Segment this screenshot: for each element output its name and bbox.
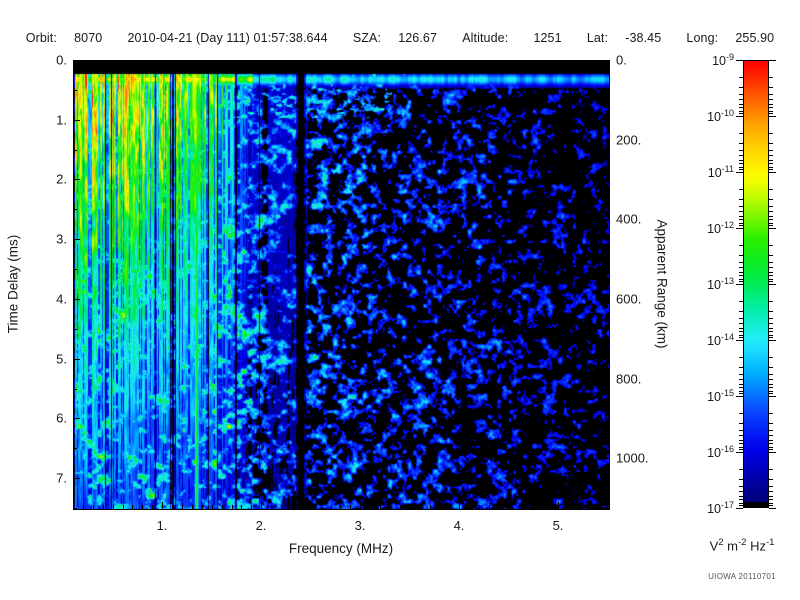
y2-tick-minor <box>605 259 609 260</box>
y-axis-right-tick-label: 200. <box>616 133 641 148</box>
colorbar-tick-minor <box>739 275 743 276</box>
y-tick-minor <box>73 389 77 390</box>
y-axis-right-tick-label: 600. <box>616 292 641 307</box>
x-top-tick-minor <box>608 60 609 64</box>
credit-footer: UIOWA 20110701 <box>708 572 776 581</box>
x-top-tick-minor <box>142 60 143 64</box>
x-tick-minor <box>123 505 124 509</box>
x-axis-tick-label: 1. <box>157 518 168 533</box>
x-top-tick-minor <box>331 60 332 64</box>
colorbar-tick-minor <box>769 413 773 414</box>
x-tick-minor <box>539 505 540 509</box>
colorbar-tick-major <box>769 60 776 61</box>
x-tick-minor <box>390 505 391 509</box>
colorbar-tick-minor <box>739 440 743 441</box>
colorbar-tick-minor <box>769 393 773 394</box>
colorbar-tick-minor <box>739 367 743 368</box>
x-tick-minor <box>222 505 223 509</box>
y-axis-right-title: Apparent Range (km) <box>655 219 670 348</box>
colorbar-tick-minor <box>769 505 773 506</box>
colorbar-tick-minor <box>739 479 743 480</box>
y2-tick-minor <box>605 100 609 101</box>
x-top-tick-minor <box>202 60 203 64</box>
x-top-tick-minor <box>222 60 223 64</box>
colorbar-tick-major <box>736 340 743 341</box>
colorbar-tick-major <box>769 396 776 397</box>
colorbar-tick-minor <box>739 469 743 470</box>
y-axis-right-tick-label: 0. <box>616 53 627 68</box>
x-tick-minor <box>321 505 322 509</box>
colorbar-tick-label: 10-11 <box>708 164 734 180</box>
x-tick-major <box>459 502 460 509</box>
colorbar-tick-minor <box>739 255 743 256</box>
colorbar-tick-minor <box>739 133 743 134</box>
x-axis-tick-label: 2. <box>256 518 267 533</box>
colorbar-tick-minor <box>769 155 773 156</box>
x-top-tick-minor <box>479 60 480 64</box>
x-top-tick-minor <box>489 60 490 64</box>
colorbar-tick-major <box>736 284 743 285</box>
y-axis-left-tick-label: 6. <box>0 411 67 426</box>
colorbar-tick-minor <box>739 279 743 280</box>
colorbar-tick-minor <box>769 440 773 441</box>
colorbar-tick-minor <box>739 155 743 156</box>
colorbar-tick-minor <box>769 374 773 375</box>
colorbar-tick-minor <box>739 104 743 105</box>
y-tick-minor <box>73 448 77 449</box>
colorbar-tick-minor <box>769 107 773 108</box>
x-top-tick-minor <box>281 60 282 64</box>
colorbar-tick-minor <box>739 167 743 168</box>
x-top-tick-minor <box>519 60 520 64</box>
colorbar-tick-minor <box>739 374 743 375</box>
colorbar-tick-minor <box>769 216 773 217</box>
colorbar-tick-label: 10-15 <box>707 388 734 404</box>
x-top-tick-minor <box>271 60 272 64</box>
colorbar-tick-minor <box>739 150 743 151</box>
colorbar-tick-major <box>769 228 776 229</box>
lat-value: -38.45 <box>625 31 661 45</box>
colorbar-tick-minor <box>769 503 773 504</box>
x-tick-minor <box>410 505 411 509</box>
x-top-tick-minor <box>539 60 540 64</box>
colorbar-tick-minor <box>769 163 773 164</box>
colorbar-tick-label: 10-16 <box>707 444 734 460</box>
lat-label: Lat: <box>587 31 608 45</box>
x-top-tick-minor <box>152 60 153 64</box>
x-top-tick-minor <box>93 60 94 64</box>
colorbar-tick-minor <box>769 301 773 302</box>
x-tick-minor <box>380 505 381 509</box>
x-top-tick-minor <box>212 60 213 64</box>
x-tick-minor <box>400 505 401 509</box>
colorbar-tick-minor <box>769 272 773 273</box>
y2-tick-major <box>602 379 609 380</box>
colorbar-tick-minor <box>739 423 743 424</box>
colorbar-tick-minor <box>769 337 773 338</box>
x-tick-minor <box>430 505 431 509</box>
ionogram-figure: Orbit: 8070 2010-04-21 (Day 111) 01:57:3… <box>0 0 800 600</box>
x-tick-minor <box>93 505 94 509</box>
colorbar-tick-minor <box>739 281 743 282</box>
x-tick-minor <box>172 505 173 509</box>
x-top-tick-minor <box>132 60 133 64</box>
colorbar-tick-minor <box>769 167 773 168</box>
colorbar-tick-minor <box>739 272 743 273</box>
colorbar-tick-minor <box>769 267 773 268</box>
colorbar-tick-major <box>736 508 743 509</box>
colorbar-tick-minor <box>739 94 743 95</box>
x-tick-minor <box>113 505 114 509</box>
x-top-tick-minor <box>291 60 292 64</box>
sza-value: 126.67 <box>398 31 437 45</box>
x-top-tick-minor <box>380 60 381 64</box>
colorbar-tick-minor <box>769 328 773 329</box>
x-top-tick-minor <box>83 60 84 64</box>
x-top-tick-minor <box>232 60 233 64</box>
x-tick-minor <box>182 505 183 509</box>
colorbar-tick-minor <box>739 113 743 114</box>
colorbar-tick-minor <box>739 311 743 312</box>
x-top-tick-minor <box>311 60 312 64</box>
colorbar-tick-minor <box>739 169 743 170</box>
altitude-value: 1251 <box>533 31 561 45</box>
x-tick-minor <box>608 505 609 509</box>
x-tick-minor <box>301 505 302 509</box>
colorbar-tick-minor <box>769 430 773 431</box>
x-tick-minor <box>499 505 500 509</box>
colorbar-tick-minor <box>739 447 743 448</box>
colorbar-tick-minor <box>769 423 773 424</box>
y-tick-major <box>73 418 80 419</box>
x-tick-minor <box>340 505 341 509</box>
y2-tick-major <box>602 299 609 300</box>
x-tick-minor <box>281 505 282 509</box>
colorbar-tick-minor <box>769 150 773 151</box>
colorbar-tick-minor <box>769 331 773 332</box>
colorbar-tick-minor <box>739 387 743 388</box>
y-tick-minor <box>73 209 77 210</box>
x-top-tick-minor <box>370 60 371 64</box>
x-tick-minor <box>549 505 550 509</box>
x-tick-minor <box>251 505 252 509</box>
x-tick-major <box>162 502 163 509</box>
colorbar-tick-minor <box>769 225 773 226</box>
colorbar-tick-minor <box>769 387 773 388</box>
colorbar-tick-minor <box>769 384 773 385</box>
colorbar-tick-minor <box>739 491 743 492</box>
x-top-tick-minor <box>588 60 589 64</box>
colorbar-tick-minor <box>769 160 773 161</box>
colorbar-tick-minor <box>739 199 743 200</box>
colorbar-tick-minor <box>739 323 743 324</box>
colorbar <box>743 60 769 508</box>
colorbar-tick-minor <box>769 447 773 448</box>
colorbar-tick-minor <box>739 331 743 332</box>
colorbar-tick-minor <box>769 323 773 324</box>
x-axis-tick-label: 4. <box>454 518 465 533</box>
x-axis-tick-label: 3. <box>355 518 366 533</box>
x-top-tick-minor <box>123 60 124 64</box>
colorbar-tick-minor <box>739 163 743 164</box>
spectrogram-image <box>74 61 609 509</box>
x-top-tick-minor <box>113 60 114 64</box>
colorbar-tick-minor <box>739 206 743 207</box>
colorbar-tick-minor <box>739 391 743 392</box>
colorbar-tick-minor <box>769 435 773 436</box>
colorbar-tick-minor <box>739 443 743 444</box>
x-tick-major <box>261 502 262 509</box>
colorbar-tick-minor <box>739 107 743 108</box>
y-tick-major <box>73 299 80 300</box>
x-tick-minor <box>440 505 441 509</box>
colorbar-tick-minor <box>739 328 743 329</box>
orbit-label: Orbit: <box>26 31 57 45</box>
colorbar-tick-minor <box>739 335 743 336</box>
colorbar-tick-minor <box>769 87 773 88</box>
colorbar-tick-minor <box>739 430 743 431</box>
colorbar-tick-major <box>769 284 776 285</box>
y-axis-left-tick-label: 2. <box>0 172 67 187</box>
y-tick-minor <box>73 150 77 151</box>
colorbar-tick-minor <box>769 479 773 480</box>
colorbar-tick-minor <box>739 77 743 78</box>
y-tick-major <box>73 120 80 121</box>
y-axis-right-tick-label: 800. <box>616 372 641 387</box>
long-label: Long: <box>686 31 718 45</box>
x-tick-minor <box>420 505 421 509</box>
colorbar-tick-minor <box>769 211 773 212</box>
x-tick-minor <box>449 505 450 509</box>
colorbar-tick-label: 10-17 <box>707 500 734 516</box>
altitude-label: Altitude: <box>462 31 508 45</box>
y-axis-left-tick-label: 5. <box>0 352 67 367</box>
colorbar-tick-minor <box>739 301 743 302</box>
x-tick-minor <box>232 505 233 509</box>
x-tick-minor <box>519 505 520 509</box>
y-axis-right-tick-label: 1000. <box>616 451 649 466</box>
y-tick-major <box>73 239 80 240</box>
header-metadata: Orbit: 8070 2010-04-21 (Day 111) 01:57:3… <box>0 31 800 45</box>
x-top-tick-minor <box>529 60 530 64</box>
x-tick-minor <box>212 505 213 509</box>
colorbar-tick-minor <box>739 87 743 88</box>
colorbar-tick-minor <box>769 499 773 500</box>
colorbar-tick-minor <box>769 486 773 487</box>
colorbar-tick-minor <box>739 216 743 217</box>
colorbar-tick-minor <box>769 279 773 280</box>
colorbar-tick-major <box>769 508 776 509</box>
colorbar-tick-major <box>736 396 743 397</box>
x-tick-minor <box>291 505 292 509</box>
colorbar-gradient <box>743 60 769 508</box>
x-top-tick-minor <box>578 60 579 64</box>
colorbar-tick-minor <box>769 275 773 276</box>
colorbar-tick-major <box>769 340 776 341</box>
y-tick-major <box>73 478 80 479</box>
colorbar-tick-minor <box>739 384 743 385</box>
colorbar-tick-minor <box>739 499 743 500</box>
colorbar-tick-major <box>736 116 743 117</box>
colorbar-tick-minor <box>739 357 743 358</box>
x-top-tick-minor <box>509 60 510 64</box>
x-tick-minor <box>370 505 371 509</box>
y2-tick-minor <box>605 418 609 419</box>
y2-tick-major <box>602 458 609 459</box>
x-tick-minor <box>103 505 104 509</box>
y-tick-minor <box>73 90 77 91</box>
colorbar-tick-minor <box>739 318 743 319</box>
spectrogram-plot-area <box>73 60 610 510</box>
x-top-tick-major <box>360 60 361 67</box>
y-axis-right-tick-label: 400. <box>616 212 641 227</box>
colorbar-tick-minor <box>769 311 773 312</box>
colorbar-tick-minor <box>769 281 773 282</box>
y-axis-left-title: Time Delay (ms) <box>6 235 21 334</box>
x-tick-minor <box>142 505 143 509</box>
colorbar-tick-major <box>736 60 743 61</box>
colorbar-tick-minor <box>769 469 773 470</box>
x-top-tick-minor <box>172 60 173 64</box>
colorbar-tick-minor <box>769 111 773 112</box>
x-top-tick-minor <box>598 60 599 64</box>
colorbar-tick-minor <box>769 104 773 105</box>
colorbar-tick-minor <box>769 219 773 220</box>
y-axis-left-tick-label: 7. <box>0 471 67 486</box>
y2-tick-major <box>602 140 609 141</box>
x-tick-minor <box>479 505 480 509</box>
colorbar-tick-minor <box>739 496 743 497</box>
colorbar-tick-minor <box>769 113 773 114</box>
x-top-tick-minor <box>440 60 441 64</box>
x-top-tick-minor <box>400 60 401 64</box>
y2-tick-minor <box>605 498 609 499</box>
x-axis-tick-label: 5. <box>553 518 564 533</box>
colorbar-tick-label: 10-13 <box>707 276 734 292</box>
colorbar-tick-minor <box>769 77 773 78</box>
x-tick-minor <box>489 505 490 509</box>
colorbar-tick-minor <box>739 99 743 100</box>
colorbar-tick-minor <box>739 449 743 450</box>
colorbar-tick-minor <box>769 318 773 319</box>
colorbar-tick-minor <box>769 335 773 336</box>
orbit-value: 8070 <box>74 31 102 45</box>
y2-tick-major <box>602 219 609 220</box>
y-tick-minor <box>73 508 77 509</box>
colorbar-tick-major <box>736 228 743 229</box>
colorbar-tick-minor <box>739 211 743 212</box>
x-top-tick-minor <box>301 60 302 64</box>
colorbar-tick-minor <box>739 262 743 263</box>
x-top-tick-minor <box>350 60 351 64</box>
colorbar-tick-minor <box>769 189 773 190</box>
x-top-tick-major <box>261 60 262 67</box>
colorbar-tick-minor <box>739 337 743 338</box>
colorbar-tick-minor <box>769 357 773 358</box>
x-top-tick-major <box>459 60 460 67</box>
x-tick-major <box>360 502 361 509</box>
x-tick-minor <box>598 505 599 509</box>
x-top-tick-minor <box>410 60 411 64</box>
y2-tick-minor <box>605 339 609 340</box>
colorbar-tick-label: 10-9 <box>712 52 734 68</box>
colorbar-tick-minor <box>769 262 773 263</box>
x-top-tick-minor <box>390 60 391 64</box>
y-tick-minor <box>73 269 77 270</box>
x-tick-minor <box>469 505 470 509</box>
x-tick-minor <box>271 505 272 509</box>
colorbar-tick-major <box>769 172 776 173</box>
colorbar-tick-label: 10-10 <box>707 108 734 124</box>
x-top-tick-minor <box>251 60 252 64</box>
colorbar-tick-minor <box>769 443 773 444</box>
colorbar-tick-minor <box>739 435 743 436</box>
x-top-tick-major <box>558 60 559 67</box>
y-tick-major <box>73 359 80 360</box>
colorbar-tick-minor <box>769 449 773 450</box>
x-tick-minor <box>152 505 153 509</box>
x-tick-minor <box>241 505 242 509</box>
x-tick-minor <box>350 505 351 509</box>
colorbar-tick-minor <box>739 225 743 226</box>
x-top-tick-minor <box>103 60 104 64</box>
y-tick-major <box>73 60 80 61</box>
colorbar-tick-minor <box>739 160 743 161</box>
colorbar-tick-minor <box>769 143 773 144</box>
colorbar-tick-minor <box>739 379 743 380</box>
colorbar-tick-minor <box>739 245 743 246</box>
colorbar-tick-major <box>736 172 743 173</box>
y-tick-minor <box>73 329 77 330</box>
x-tick-minor <box>509 505 510 509</box>
x-tick-minor <box>132 505 133 509</box>
x-tick-minor <box>568 505 569 509</box>
x-tick-minor <box>202 505 203 509</box>
x-top-tick-minor <box>499 60 500 64</box>
colorbar-units-label: V2 m-2 Hz-1 <box>710 537 775 553</box>
colorbar-tick-minor <box>739 267 743 268</box>
colorbar-tick-minor <box>769 169 773 170</box>
colorbar-tick-major <box>769 452 776 453</box>
x-axis-title: Frequency (MHz) <box>289 541 393 556</box>
colorbar-tick-minor <box>739 219 743 220</box>
colorbar-tick-minor <box>739 413 743 414</box>
colorbar-tick-minor <box>769 379 773 380</box>
colorbar-tick-minor <box>739 503 743 504</box>
observation-datetime: 2010-04-21 (Day 111) 01:57:38.644 <box>128 31 328 45</box>
x-top-tick-minor <box>241 60 242 64</box>
colorbar-tick-minor <box>769 199 773 200</box>
x-tick-minor <box>192 505 193 509</box>
x-tick-minor <box>578 505 579 509</box>
colorbar-tick-minor <box>769 133 773 134</box>
colorbar-tick-minor <box>769 491 773 492</box>
x-top-tick-minor <box>568 60 569 64</box>
x-tick-minor <box>311 505 312 509</box>
colorbar-tick-minor <box>769 367 773 368</box>
x-tick-minor <box>529 505 530 509</box>
colorbar-tick-minor <box>769 223 773 224</box>
x-top-tick-minor <box>182 60 183 64</box>
colorbar-tick-minor <box>739 486 743 487</box>
colorbar-tick-minor <box>739 189 743 190</box>
colorbar-tick-minor <box>769 94 773 95</box>
colorbar-tick-major <box>736 452 743 453</box>
x-top-tick-minor <box>449 60 450 64</box>
colorbar-floor-swatch <box>744 502 768 507</box>
x-top-tick-minor <box>549 60 550 64</box>
x-top-tick-minor <box>321 60 322 64</box>
